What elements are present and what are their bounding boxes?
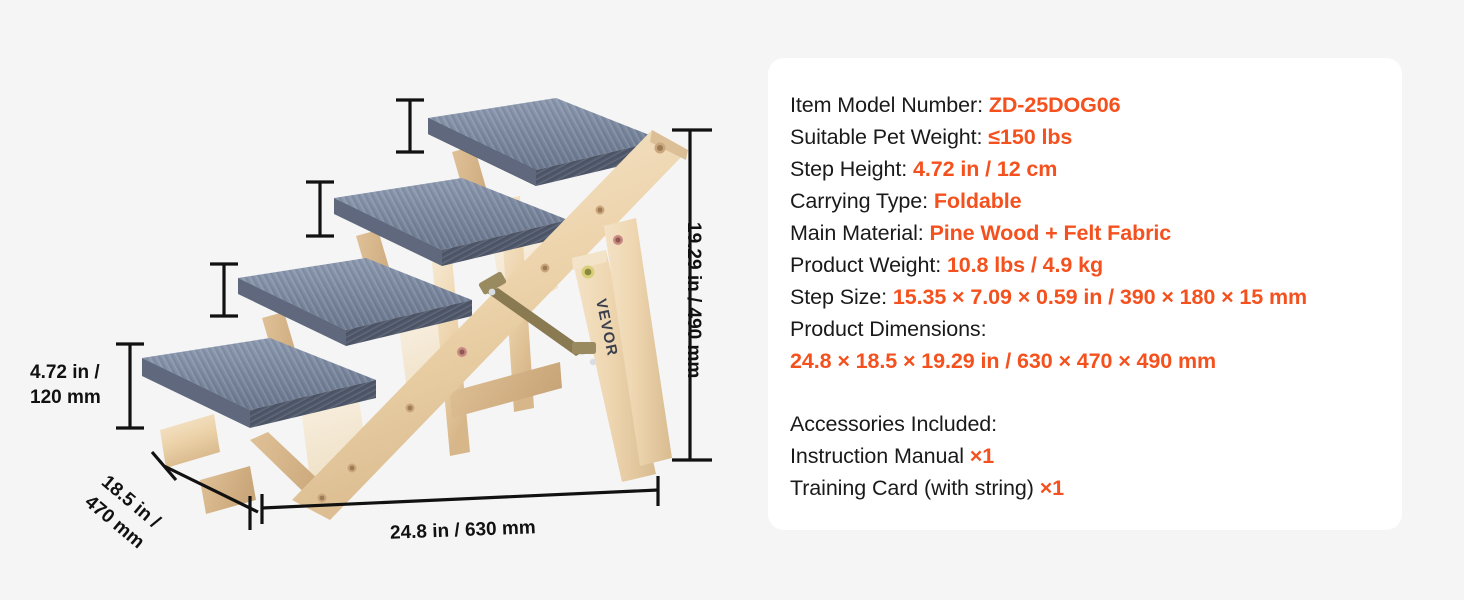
spec-label: Product Weight: (790, 253, 947, 277)
spec-line: Main Material: Pine Wood + Felt Fabric (790, 217, 1390, 249)
accessory-quantity: ×1 (1040, 476, 1064, 500)
spec-value: ≤150 lbs (988, 125, 1072, 149)
step-rise-tick-2 (210, 264, 238, 316)
step-rise-tick-4 (396, 100, 424, 152)
spec-line: Step Size: 15.35 × 7.09 × 0.59 in / 390 … (790, 281, 1390, 313)
spec-line: Product Weight: 10.8 lbs / 4.9 kg (790, 249, 1390, 281)
accessory-label: Training Card (with string) (790, 476, 1040, 500)
dimension-label-step-height: 4.72 in / 120 mm (30, 360, 101, 410)
step-rise-tick-3 (306, 182, 334, 236)
dimension-label-height: 19.29 in / 490 mm (681, 222, 706, 378)
spec-line: 24.8 × 18.5 × 19.29 in / 630 × 470 × 490… (790, 345, 1390, 377)
specification-list: Item Model Number: ZD-25DOG06Suitable Pe… (790, 89, 1390, 504)
product-illustration: VEVOR (0, 0, 768, 600)
accessory-label: Instruction Manual (790, 444, 970, 468)
spec-label: Item Model Number: (790, 93, 989, 117)
spec-line: Item Model Number: ZD-25DOG06 (790, 89, 1390, 121)
step-rise-tick-1 (116, 344, 144, 428)
accessories-heading: Accessories Included: (790, 408, 1390, 440)
spec-line: Carrying Type: Foldable (790, 185, 1390, 217)
spec-value: 4.72 in / 12 cm (913, 157, 1057, 181)
spec-label: Suitable Pet Weight: (790, 125, 988, 149)
spec-value: Pine Wood + Felt Fabric (930, 221, 1172, 245)
spec-label: Carrying Type: (790, 189, 934, 213)
product-spec-image: VEVOR (0, 0, 1464, 600)
spec-spacer (790, 377, 1390, 408)
accessory-item: Instruction Manual ×1 (790, 440, 1390, 472)
spec-value: 10.8 lbs / 4.9 kg (947, 253, 1103, 277)
spec-value: ZD-25DOG06 (989, 93, 1121, 117)
specification-card: Item Model Number: ZD-25DOG06Suitable Pe… (768, 58, 1402, 530)
spec-value: 24.8 × 18.5 × 19.29 in / 630 × 470 × 490… (790, 349, 1216, 373)
spec-label: Main Material: (790, 221, 930, 245)
accessory-quantity: ×1 (970, 444, 994, 468)
spec-label: Step Height: (790, 157, 913, 181)
accessory-item: Training Card (with string) ×1 (790, 472, 1390, 504)
spec-line: Product Dimensions: (790, 313, 1390, 345)
spec-label: Product Dimensions: (790, 317, 986, 341)
spec-line: Step Height: 4.72 in / 12 cm (790, 153, 1390, 185)
spec-value: Foldable (934, 189, 1022, 213)
spec-line: Suitable Pet Weight: ≤150 lbs (790, 121, 1390, 153)
spec-label: Step Size: (790, 285, 893, 309)
spec-value: 15.35 × 7.09 × 0.59 in / 390 × 180 × 15 … (893, 285, 1307, 309)
